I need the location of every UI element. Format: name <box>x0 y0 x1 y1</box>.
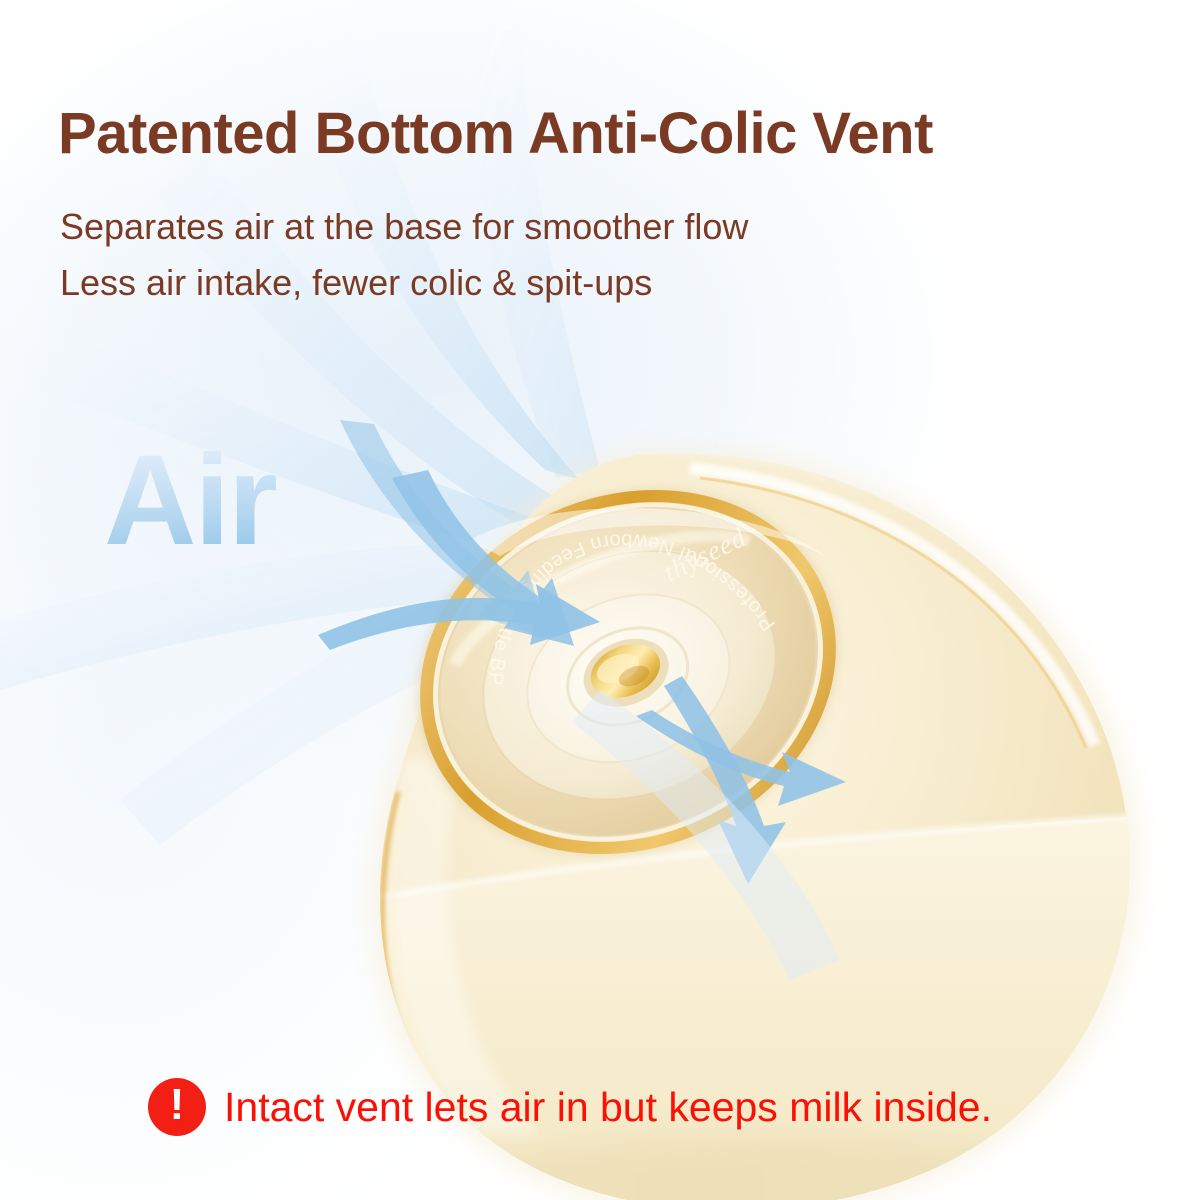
page-title: Patented Bottom Anti-Colic Vent <box>58 104 933 164</box>
subtitle-line-1: Separates air at the base for smoother f… <box>60 206 748 248</box>
product-infographic: thyseed Professional Newborn Feeding Bot… <box>0 0 1200 1200</box>
warning-text: Intact vent lets air in but keeps milk i… <box>224 1084 992 1131</box>
warning-banner: ! Intact vent lets air in but keeps milk… <box>148 1078 992 1136</box>
exclamation-icon: ! <box>148 1078 206 1136</box>
bottle-illustration: thyseed Professional Newborn Feeding Bot… <box>0 0 1200 1200</box>
exclamation-mark: ! <box>170 1083 185 1127</box>
baby-bottle: thyseed Professional Newborn Feeding Bot… <box>330 271 1200 1200</box>
subtitle-line-2: Less air intake, fewer colic & spit-ups <box>60 262 652 304</box>
air-label: Air <box>104 437 276 565</box>
